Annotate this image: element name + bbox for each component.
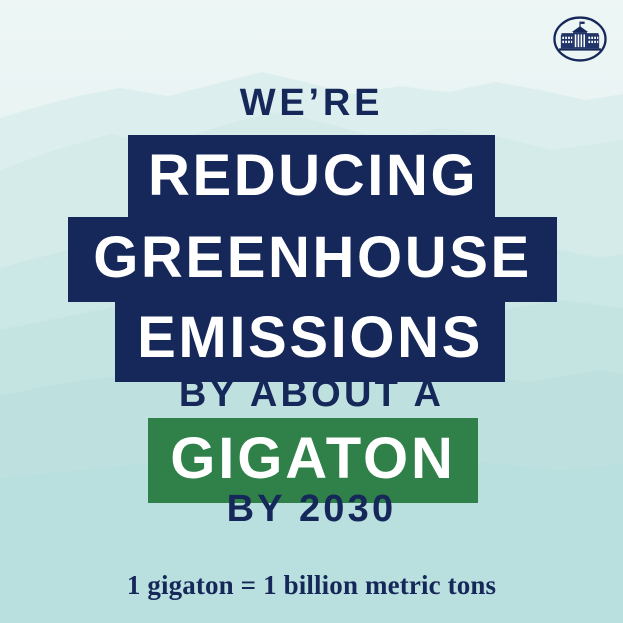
- headline-line-by-2030: BY 2030: [0, 490, 623, 528]
- headline-stack: WE’RE REDUCING GREENHOUSE EMISSIONS BY A…: [0, 0, 623, 623]
- headline-line-were: WE’RE: [0, 84, 623, 122]
- headline-line-greenhouse: GREENHOUSE: [68, 217, 557, 302]
- graphic-poster: WE’RE REDUCING GREENHOUSE EMISSIONS BY A…: [0, 0, 623, 623]
- headline-line-reducing: REDUCING: [128, 135, 495, 220]
- headline-line-emissions: EMISSIONS: [115, 297, 505, 382]
- headline-line-by-about-a: BY ABOUT A: [0, 375, 623, 413]
- footnote-text: 1 gigaton = 1 billion metric tons: [0, 570, 623, 601]
